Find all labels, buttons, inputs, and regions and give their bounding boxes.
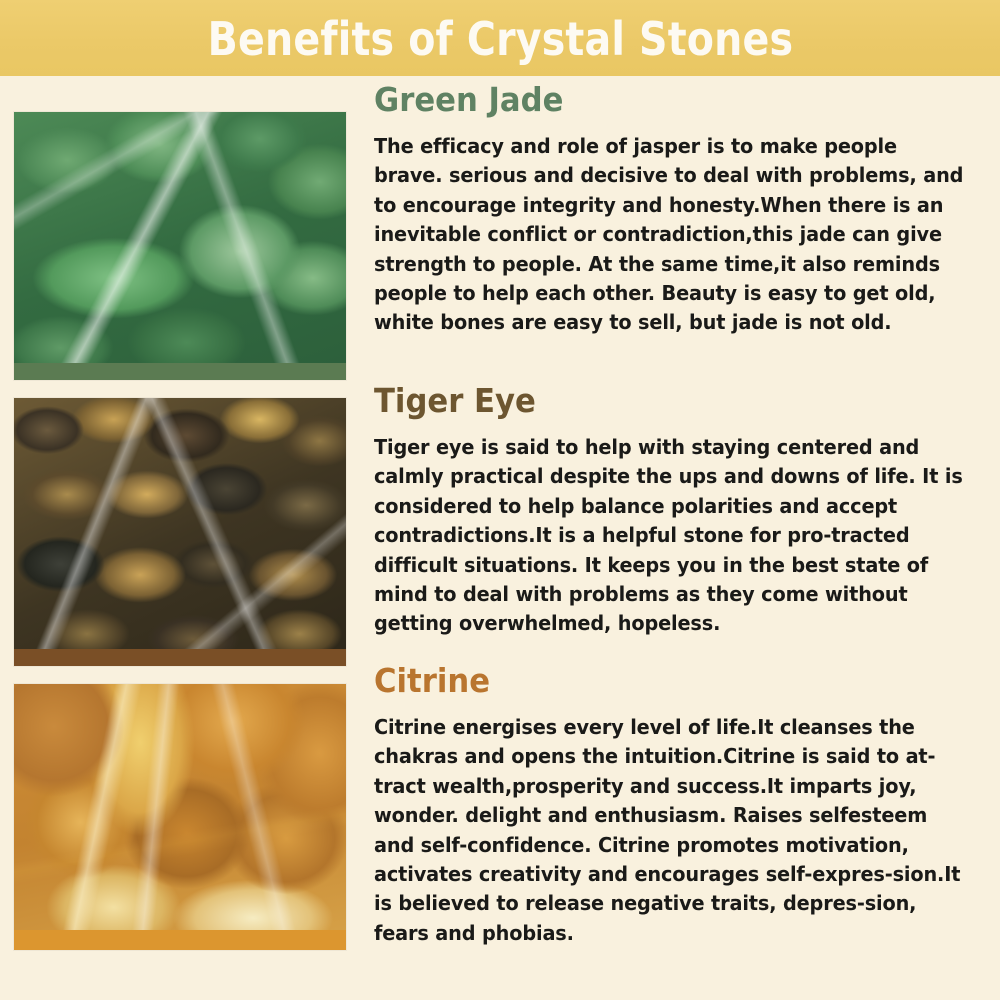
page-title: Benefits of Crystal Stones [207,14,793,64]
citrine-highlight-overlay [14,684,346,950]
page-header-banner: Benefits of Crystal Stones [0,0,1000,76]
section-body-green-jade: The efficacy and role of jasper is to ma… [374,132,970,338]
tiger-eye-bottom-strip [14,649,346,666]
tiger-eye-stones-photo [14,398,346,666]
green-jade-photo-inner [14,112,346,380]
section-tiger-eye: Tiger Eye Tiger eye is said to help with… [374,381,970,639]
green-jade-highlight-overlay [14,112,346,380]
section-heading-tiger-eye: Tiger Eye [374,381,928,421]
content-area: Green Jade The efficacy and role of jasp… [0,76,1000,1000]
citrine-crystal-photo [14,684,346,950]
section-body-citrine: Citrine energises every level of life.It… [374,713,970,948]
green-jade-stones-photo [14,112,346,380]
citrine-bottom-strip [14,930,346,950]
tiger-eye-highlight-overlay [14,398,346,666]
section-heading-green-jade: Green Jade [374,80,928,120]
tiger-eye-photo-inner [14,398,346,666]
section-citrine: Citrine Citrine energises every level of… [374,661,970,948]
section-body-tiger-eye: Tiger eye is said to help with staying c… [374,433,970,639]
section-green-jade: Green Jade The efficacy and role of jasp… [374,80,970,338]
section-heading-citrine: Citrine [374,661,928,701]
infographic-page: Benefits of Crystal Stones [0,0,1000,1000]
citrine-photo-inner [14,684,346,950]
green-jade-bottom-strip [14,363,346,380]
